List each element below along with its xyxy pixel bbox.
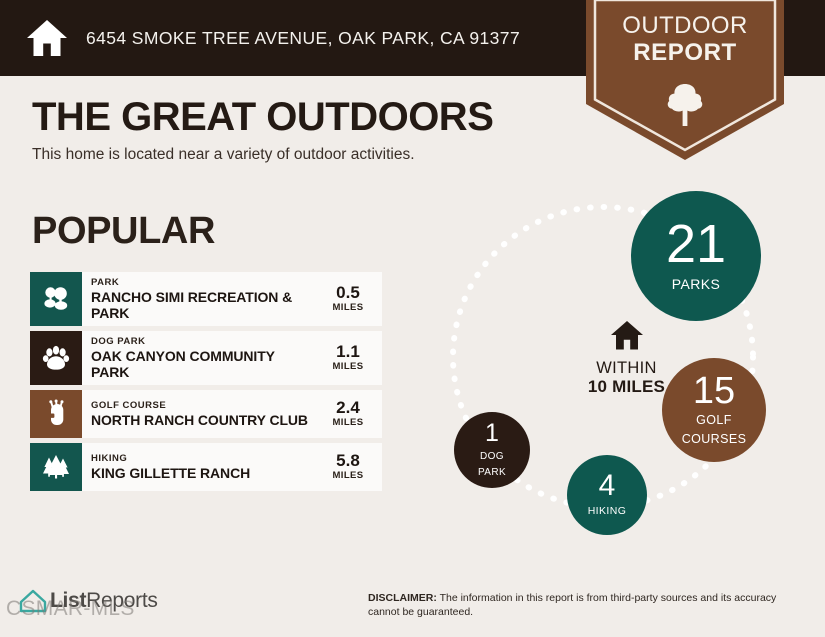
- distance-value: 5.8: [336, 452, 360, 470]
- bubble-golf-label-line2: COURSES: [682, 433, 747, 447]
- popular-places-list: PARK RANCHO SIMI RECREATION & PARK 0.5 M…: [30, 272, 382, 496]
- intro-block: THE GREAT OUTDOORS This home is located …: [32, 96, 493, 164]
- list-item-text: GOLF COURSE NORTH RANCH COUNTRY CLUB: [82, 390, 322, 438]
- bubble-dogpark-label-line1: DOG: [480, 451, 504, 462]
- bubble-parks[interactable]: 21 PARKS: [631, 191, 761, 321]
- bubble-dogpark-label-line2: PARK: [478, 467, 506, 478]
- list-item-name: OAK CANYON COMMUNITY PARK: [91, 348, 316, 380]
- logo-list-text: List: [50, 589, 86, 612]
- bubble-hiking-value: 4: [599, 472, 616, 501]
- bubble-dog-park[interactable]: 1 DOG PARK: [454, 412, 530, 488]
- listreports-logo-text: ListReports: [50, 589, 158, 613]
- chart-center-label: WITHIN 10 MILES: [554, 320, 699, 397]
- outdoor-report-badge: OUTDOOR REPORT: [586, 0, 784, 160]
- bubble-parks-label: PARKS: [672, 277, 720, 292]
- home-icon: [610, 320, 644, 351]
- golf-bag-icon: [30, 390, 82, 438]
- list-item[interactable]: DOG PARK OAK CANYON COMMUNITY PARK 1.1 M…: [30, 331, 382, 385]
- badge-shield-shape: [586, 0, 784, 160]
- disclaimer-label: DISCLAIMER:: [368, 592, 437, 604]
- bubble-golf-value: 15: [693, 373, 735, 409]
- pine-trees-icon: [30, 443, 82, 491]
- park-trees-icon: [30, 272, 82, 326]
- tree-icon: [664, 82, 706, 128]
- list-item-text: DOG PARK OAK CANYON COMMUNITY PARK: [82, 331, 322, 385]
- list-item-distance: 1.1 MILES: [322, 331, 382, 385]
- list-item-text: HIKING KING GILLETTE RANCH: [82, 443, 322, 491]
- chart-center-line2: 10 MILES: [554, 377, 699, 396]
- list-item-name: RANCHO SIMI RECREATION & PARK: [91, 289, 316, 321]
- home-icon: [26, 18, 68, 58]
- bubble-golf-label-line1: GOLF: [696, 414, 732, 428]
- list-item-name: KING GILLETTE RANCH: [91, 465, 316, 481]
- list-item-category: HIKING: [91, 453, 316, 465]
- distance-value: 2.4: [336, 399, 360, 417]
- distance-unit: MILES: [332, 417, 363, 429]
- distance-unit: MILES: [332, 470, 363, 482]
- disclaimer: DISCLAIMER: The information in this repo…: [368, 591, 792, 619]
- list-item[interactable]: PARK RANCHO SIMI RECREATION & PARK 0.5 M…: [30, 272, 382, 326]
- list-item-distance: 2.4 MILES: [322, 390, 382, 438]
- distance-unit: MILES: [332, 302, 363, 314]
- page-subtitle: This home is located near a variety of o…: [32, 146, 493, 164]
- list-item-category: GOLF COURSE: [91, 400, 316, 412]
- listreports-logo[interactable]: ListReports: [18, 588, 158, 614]
- list-item[interactable]: HIKING KING GILLETTE RANCH 5.8 MILES: [30, 443, 382, 491]
- list-item-distance: 5.8 MILES: [322, 443, 382, 491]
- paw-print-icon: [30, 331, 82, 385]
- distance-value: 0.5: [336, 284, 360, 302]
- page-title: THE GREAT OUTDOORS: [32, 96, 493, 138]
- list-item-distance: 0.5 MILES: [322, 272, 382, 326]
- list-item-text: PARK RANCHO SIMI RECREATION & PARK: [82, 272, 322, 326]
- bubble-hiking[interactable]: 4 HIKING: [567, 455, 647, 535]
- logo-reports-text: Reports: [86, 589, 157, 612]
- distance-unit: MILES: [332, 361, 363, 373]
- list-item-category: DOG PARK: [91, 336, 316, 348]
- within-10-miles-bubble-chart: 21 PARKS 15 GOLF COURSES 4 HIKING 1 DOG …: [440, 180, 825, 550]
- list-item-name: NORTH RANCH COUNTRY CLUB: [91, 412, 316, 428]
- chart-center-line1: WITHIN: [554, 359, 699, 377]
- bubble-parks-value: 21: [666, 219, 726, 270]
- list-item-category: PARK: [91, 277, 316, 289]
- popular-heading: POPULAR: [32, 212, 215, 250]
- property-address: 6454 SMOKE TREE AVENUE, OAK PARK, CA 913…: [86, 28, 520, 49]
- bubble-dogpark-value: 1: [485, 422, 499, 446]
- house-outline-icon: [18, 588, 48, 614]
- bubble-hiking-label: HIKING: [588, 506, 627, 518]
- distance-value: 1.1: [336, 343, 360, 361]
- list-item[interactable]: GOLF COURSE NORTH RANCH COUNTRY CLUB 2.4…: [30, 390, 382, 438]
